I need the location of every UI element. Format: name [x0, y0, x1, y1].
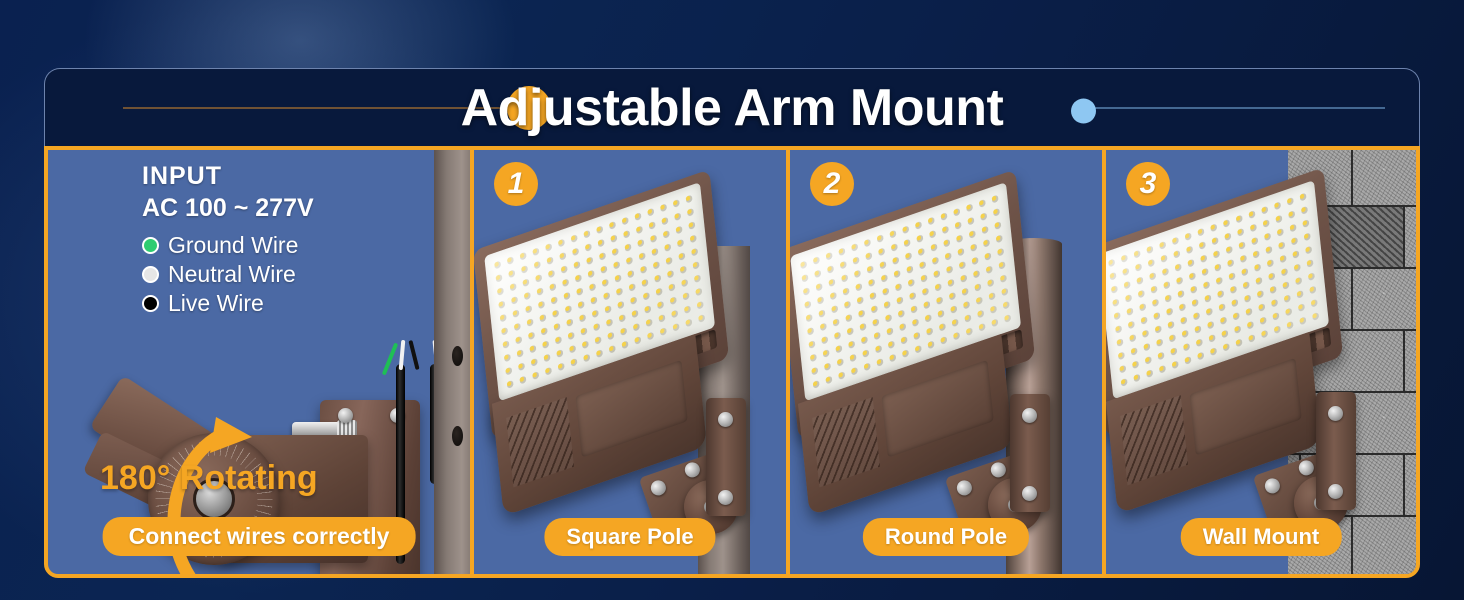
panel-round-pole: 2 — [790, 150, 1106, 574]
wire-label-live: Live Wire — [168, 290, 264, 317]
wire-dot-live-icon — [142, 295, 159, 312]
arm-bolt-icon — [1297, 458, 1316, 477]
caption-round-pole: Round Pole — [863, 518, 1029, 556]
heatsink-ribs — [812, 397, 880, 488]
step-badge-3: 3 — [1126, 162, 1170, 206]
arm-bolt-icon — [649, 478, 668, 497]
step-badge-1: 1 — [494, 162, 538, 206]
rotation-label: 180° Rotating — [100, 459, 318, 498]
bracket-bolt-icon — [718, 412, 733, 427]
panel-square-pole: 1 — [474, 150, 790, 574]
housing-plate — [881, 360, 993, 458]
input-spec-block: INPUT AC 100 ~ 277V Ground Wire Neutral … — [142, 160, 314, 319]
wire-label-ground: Ground Wire — [168, 232, 298, 259]
plate-bolt-icon — [338, 408, 353, 423]
pole-bracket — [1010, 394, 1050, 512]
page-title: Adjustable Arm Mount — [45, 69, 1419, 146]
arm-bolt-icon — [989, 460, 1008, 479]
bracket-bolt-icon — [1022, 486, 1037, 501]
wire-strand-black — [408, 340, 419, 370]
step-badge-2: 2 — [810, 162, 854, 206]
bracket-bolt-icon — [1022, 408, 1037, 423]
pole-hole-icon — [452, 426, 463, 446]
input-label: INPUT — [142, 160, 314, 192]
pole-bracket — [706, 398, 746, 516]
arm-bolt-icon — [683, 460, 702, 479]
panel-strip: INPUT AC 100 ~ 277V Ground Wire Neutral … — [44, 146, 1420, 578]
wire-label-neutral: Neutral Wire — [168, 261, 296, 288]
bracket-bolt-icon — [718, 490, 733, 505]
heatsink-ribs — [1120, 395, 1188, 486]
bracket-bolt-icon — [1328, 406, 1343, 421]
infographic-banner: Adjustable Arm Mount INPUT AC 100 ~ 277V… — [0, 0, 1464, 600]
wire-legend-neutral: Neutral Wire — [142, 261, 314, 288]
panel-wall-mount: 3 — [1106, 150, 1416, 574]
housing-plate — [575, 360, 687, 458]
input-voltage: AC 100 ~ 277V — [142, 192, 314, 224]
pole-hole-icon — [452, 346, 463, 366]
caption-square-pole: Square Pole — [544, 518, 715, 556]
heatsink-ribs — [506, 397, 574, 488]
wire-legend-live: Live Wire — [142, 290, 314, 317]
caption-wall-mount: Wall Mount — [1181, 518, 1342, 556]
arm-bolt-icon — [955, 478, 974, 497]
wire-dot-ground-icon — [142, 237, 159, 254]
caption-connect-wires: Connect wires correctly — [103, 517, 416, 556]
bracket-bolt-icon — [1328, 484, 1343, 499]
wire-legend-ground: Ground Wire — [142, 232, 314, 259]
wall-bracket — [1316, 392, 1356, 510]
wire-dot-neutral-icon — [142, 266, 159, 283]
housing-plate — [1189, 358, 1301, 456]
panel-wiring: INPUT AC 100 ~ 277V Ground Wire Neutral … — [48, 150, 474, 574]
header-panel: Adjustable Arm Mount — [44, 68, 1420, 146]
arm-bolt-icon — [1263, 476, 1282, 495]
